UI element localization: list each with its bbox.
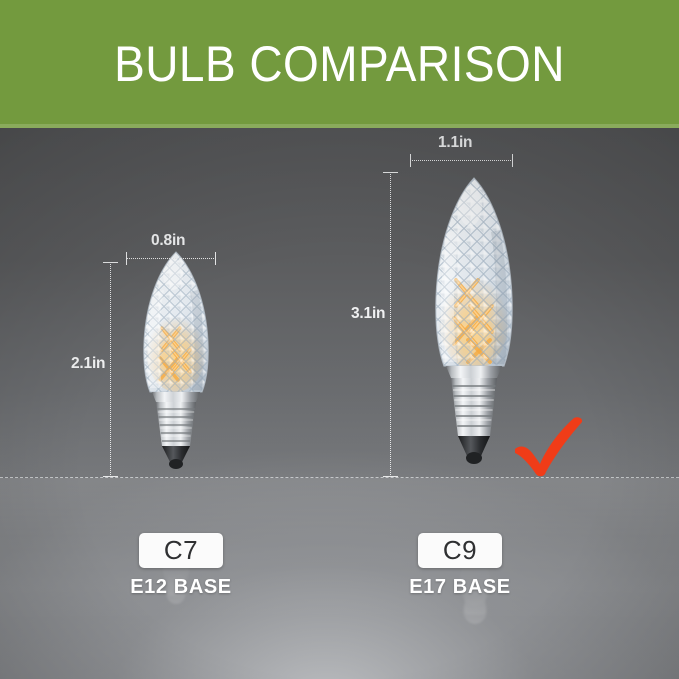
c9-label-chip: C9 [418,533,502,568]
c7-height-label: 2.1in [71,355,105,373]
c7-width-tick-right [215,252,216,265]
c9-base-label: E17 BASE [379,576,541,599]
c7-width-tick-left [126,252,127,265]
c7-width-dimension-line [126,258,216,259]
c9-height-label: 3.1in [351,305,385,323]
c9-width-dimension-line [410,160,513,161]
page-title: BULB COMPARISON [27,36,652,92]
c7-label-chip: C7 [139,533,223,568]
c9-width-label: 1.1in [438,134,472,152]
product-scene: 0.8in 2.1in 1.1in 3.1in C7 E12 BASE C9 E… [0,128,679,679]
c9-width-tick-left [410,154,411,167]
c9-width-tick-right [512,154,513,167]
header-band-edge [0,124,679,128]
c7-height-tick-top [103,262,118,263]
c7-base-label: E12 BASE [100,576,262,599]
c9-height-tick-top [383,172,398,173]
check-mark-icon [512,416,586,483]
c7-bulb-image [120,246,232,484]
c9-height-tick-bottom [383,476,398,477]
bulb-comparison-graphic: BULB COMPARISON [0,0,679,679]
c7-height-dimension-line [110,262,111,477]
c9-height-dimension-line [390,172,391,477]
c7-height-tick-bottom [103,476,118,477]
c7-width-label: 0.8in [151,232,185,250]
